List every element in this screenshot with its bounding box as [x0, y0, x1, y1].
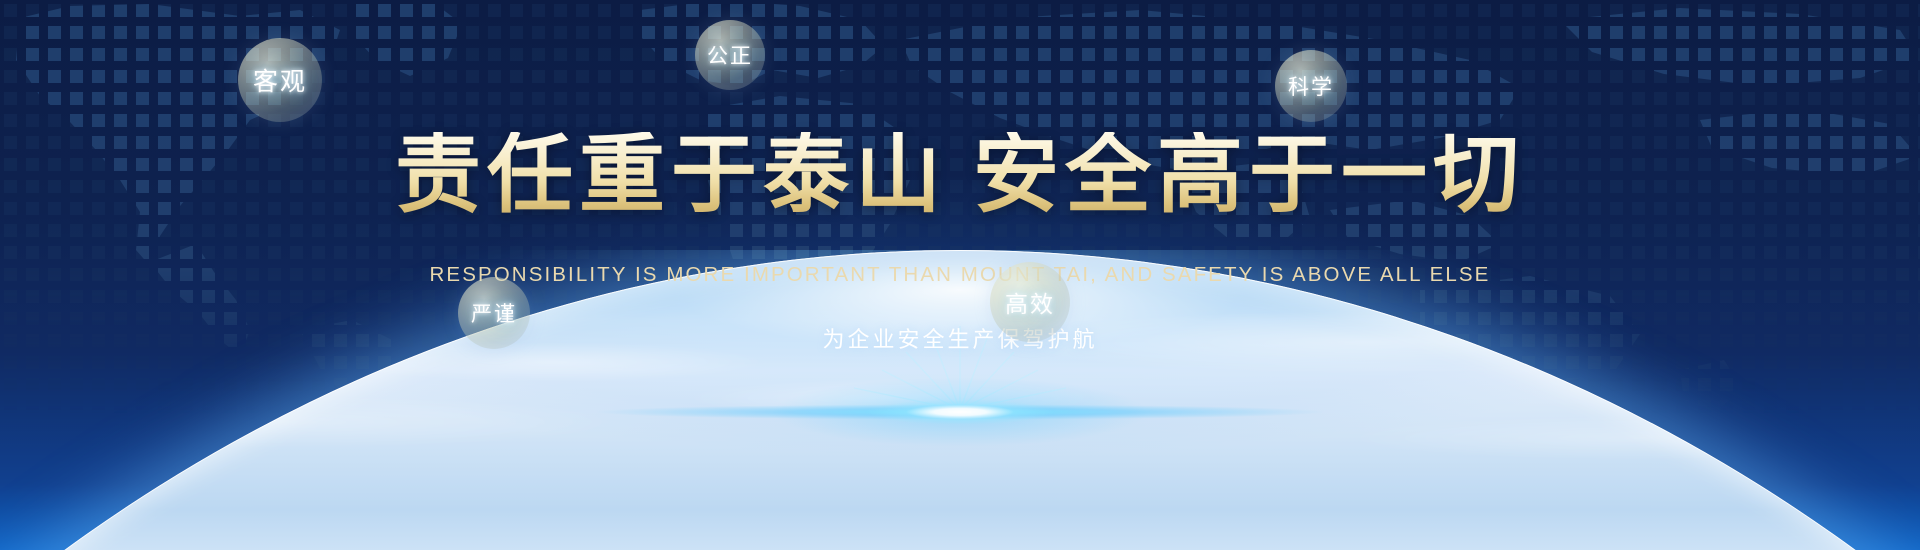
hero-banner: 责任重于泰山安全高于一切 RESPONSIBILITY IS MORE IMPO… [0, 0, 1920, 550]
badge-label: 高效 [1005, 285, 1055, 319]
badge-label: 公正 [707, 40, 753, 70]
badge-label: 客观 [253, 62, 307, 98]
badge-gongzheng[interactable]: 公正 [695, 20, 765, 90]
badge-gaoxiao[interactable]: 高效 [990, 262, 1070, 342]
badge-label: 严谨 [471, 298, 517, 328]
badge-label: 科学 [1288, 71, 1334, 101]
headline-part-1: 责任重于泰山 [395, 127, 947, 223]
page-title: 责任重于泰山安全高于一切 [0, 132, 1920, 218]
tagline-chinese: 为企业安全生产保驾护航 [0, 322, 1920, 354]
badge-kexue[interactable]: 科学 [1275, 50, 1347, 122]
headline-part-2: 安全高于一切 [973, 127, 1525, 223]
badge-yanjin[interactable]: 严谨 [458, 277, 530, 349]
subtitle-english: RESPONSIBILITY IS MORE IMPORTANT THAN MO… [0, 263, 1920, 287]
badge-keguan[interactable]: 客观 [238, 38, 322, 122]
